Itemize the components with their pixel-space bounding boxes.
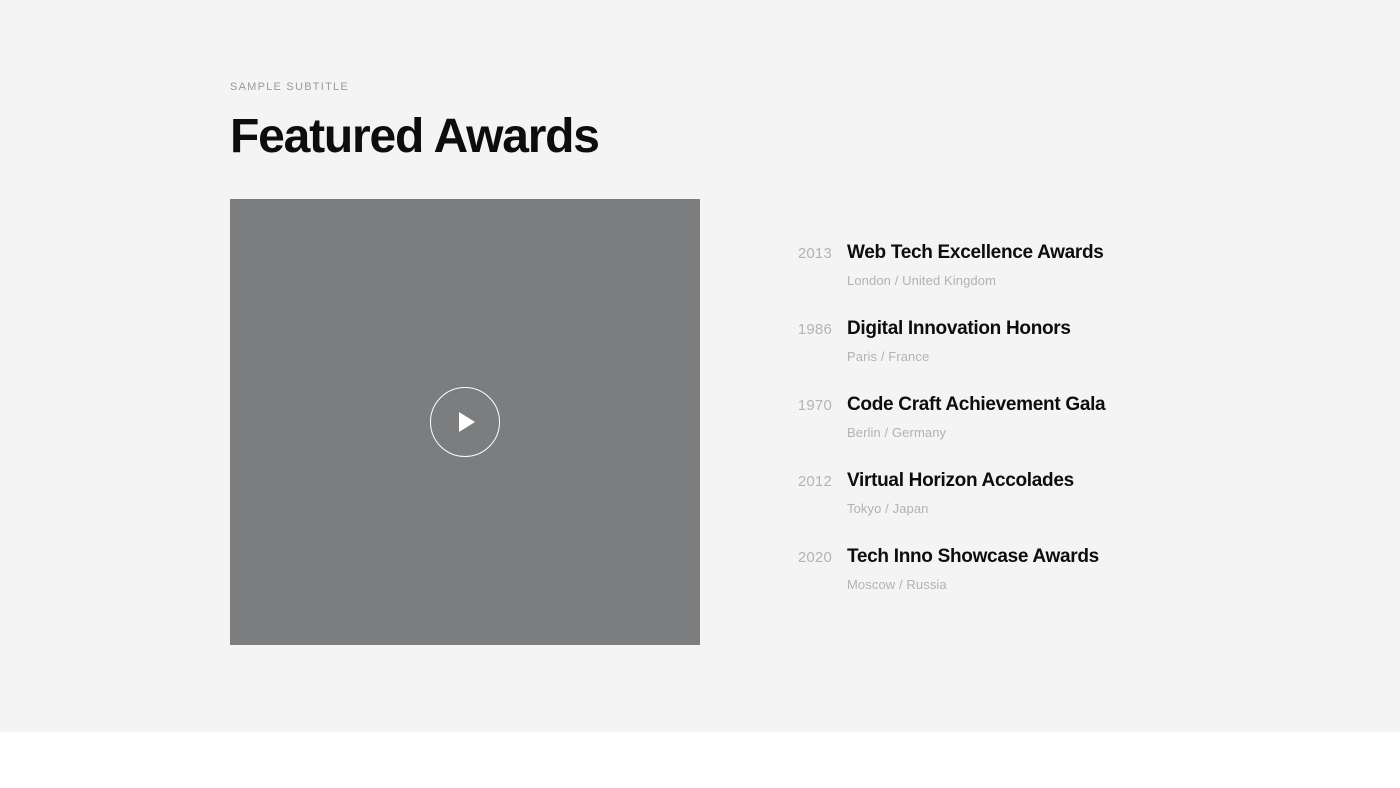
video-media-panel[interactable] <box>230 199 700 645</box>
page-title: Featured Awards <box>230 109 599 165</box>
award-body: Tech Inno Showcase Awards Moscow / Russi… <box>847 544 1230 594</box>
award-year: 1970 <box>770 396 832 416</box>
bottom-white-strip <box>0 732 1400 788</box>
award-body: Web Tech Excellence Awards London / Unit… <box>847 240 1230 290</box>
award-body: Code Craft Achievement Gala Berlin / Ger… <box>847 392 1230 442</box>
award-title: Code Craft Achievement Gala <box>847 392 1230 418</box>
award-location: Moscow / Russia <box>847 576 1230 594</box>
award-list-item[interactable]: 1986 Digital Innovation Honors Paris / F… <box>770 316 1230 392</box>
awards-list: 2013 Web Tech Excellence Awards London /… <box>770 240 1230 620</box>
award-year: 2013 <box>770 244 832 264</box>
section-header: SAMPLE SUBTITLE Featured Awards <box>230 79 599 165</box>
award-body: Digital Innovation Honors Paris / France <box>847 316 1230 366</box>
award-title: Tech Inno Showcase Awards <box>847 544 1230 570</box>
award-year: 1986 <box>770 320 832 340</box>
award-year: 2012 <box>770 472 832 492</box>
award-title: Web Tech Excellence Awards <box>847 240 1230 266</box>
award-list-item[interactable]: 2012 Virtual Horizon Accolades Tokyo / J… <box>770 468 1230 544</box>
featured-awards-section: SAMPLE SUBTITLE Featured Awards 2013 Web… <box>0 0 1400 732</box>
award-body: Virtual Horizon Accolades Tokyo / Japan <box>847 468 1230 518</box>
award-list-item[interactable]: 2020 Tech Inno Showcase Awards Moscow / … <box>770 544 1230 620</box>
award-location: Berlin / Germany <box>847 424 1230 442</box>
play-button[interactable] <box>430 387 500 457</box>
award-year: 2020 <box>770 548 832 568</box>
award-location: Paris / France <box>847 348 1230 366</box>
award-location: Tokyo / Japan <box>847 500 1230 518</box>
award-location: London / United Kingdom <box>847 272 1230 290</box>
content-row: 2013 Web Tech Excellence Awards London /… <box>230 199 1230 645</box>
section-subtitle: SAMPLE SUBTITLE <box>230 79 599 95</box>
award-title: Digital Innovation Honors <box>847 316 1230 342</box>
page-root: SAMPLE SUBTITLE Featured Awards 2013 Web… <box>0 0 1400 788</box>
play-icon <box>459 412 475 432</box>
award-list-item[interactable]: 1970 Code Craft Achievement Gala Berlin … <box>770 392 1230 468</box>
award-list-item[interactable]: 2013 Web Tech Excellence Awards London /… <box>770 240 1230 316</box>
award-title: Virtual Horizon Accolades <box>847 468 1230 494</box>
